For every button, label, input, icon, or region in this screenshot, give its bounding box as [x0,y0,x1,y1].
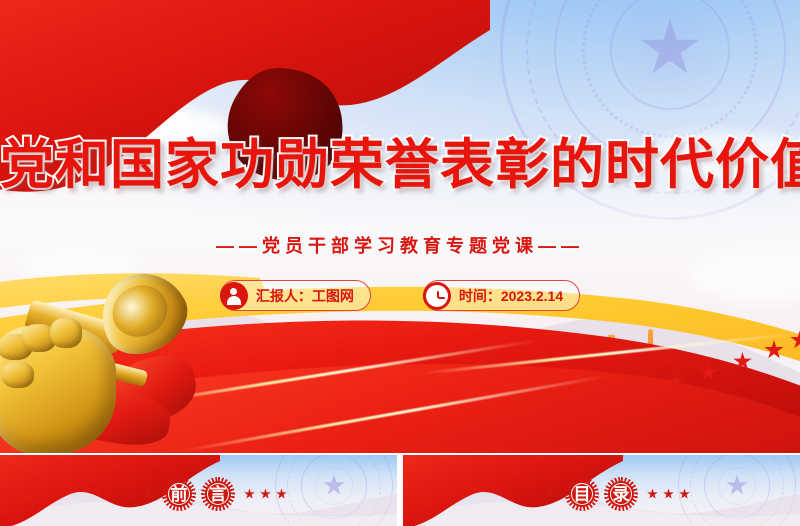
thumbnail-contents-slide[interactable]: 目 录 [403,455,800,526]
stars-left [513,489,556,500]
seal-badge: 录 [604,477,638,511]
user-icon [220,282,248,310]
main-cover-slide[interactable]: 党和国家功勋荣誉表彰的时代价值 ——党员干部学习教育专题党课—— 汇报人：工图网… [0,0,800,453]
seal-char: 录 [613,486,630,503]
seal-badge: 言 [201,477,235,511]
thumbnail-title-row: 前 言 [0,477,397,511]
thumbnail-preface-slide[interactable]: 前 言 [0,455,397,526]
seal-char: 前 [171,486,188,503]
stars-right [647,489,690,500]
seal-char: 言 [210,486,227,503]
page-title: 党和国家功勋荣誉表彰的时代价值 [0,138,800,192]
date-badge[interactable]: 时间：2023.2.14 [423,280,580,311]
thumbnail-title-row: 目 录 [403,477,800,511]
date-label: 时间：2023.2.14 [459,286,563,306]
clock-icon [423,282,451,310]
stars-right [244,489,287,500]
presenter-badge[interactable]: 汇报人：工图网 [220,280,371,311]
page-subtitle: ——党员干部学习教育专题党课—— [0,232,800,258]
seal-badge: 目 [565,477,599,511]
seal-badge: 前 [162,477,196,511]
presenter-label: 汇报人：工图网 [256,286,354,306]
slide-thumbnail-strip: 前 言 目 [0,455,800,526]
meta-badges: 汇报人：工图网 时间：2023.2.14 [0,280,800,311]
presentation-cover-stage: 党和国家功勋荣誉表彰的时代价值 ——党员干部学习教育专题党课—— 汇报人：工图网… [0,0,800,526]
stars-left [110,489,153,500]
seal-char: 目 [574,486,591,503]
